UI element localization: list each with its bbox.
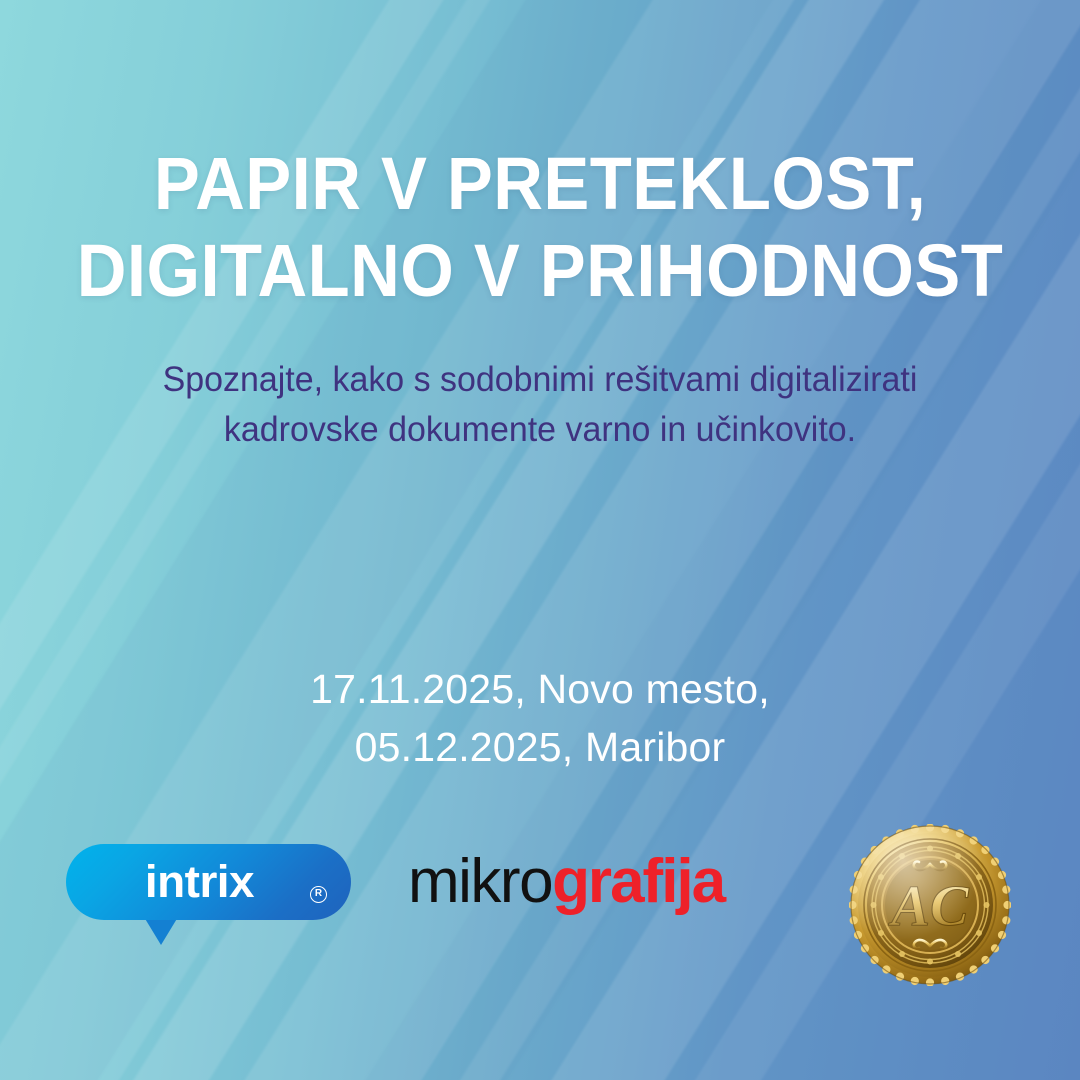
event-date-line-2: 05.12.2025, Maribor <box>0 718 1080 776</box>
mikrografija-wordmark-part2: grafija <box>552 851 724 913</box>
headline-line-2: DIGITALNO V PRIHODNOST <box>38 227 1042 314</box>
headline-line-1: PAPIR V PRETEKLOST, <box>38 140 1042 227</box>
subtitle-line-2: kadrovske dokumente varno in učinkovito. <box>16 405 1064 455</box>
mikrografija-logo[interactable]: mikrografija <box>408 842 798 922</box>
ac-medallion-logo[interactable]: AC <box>849 824 1011 986</box>
mikrografija-wordmark-part1: mikro <box>408 851 552 913</box>
speech-bubble-tail-icon <box>144 917 178 945</box>
subtitle-line-1: Spoznajte, kako s sodobnimi rešitvami di… <box>16 355 1064 405</box>
logo-row: intrix R mikrografija <box>0 812 1080 987</box>
page-subtitle: Spoznajte, kako s sodobnimi rešitvami di… <box>16 355 1064 454</box>
registered-trademark-icon: R <box>310 886 327 903</box>
intrix-logo[interactable]: intrix R <box>66 844 351 920</box>
gold-coin-icon: AC <box>849 824 1011 986</box>
page-title: PAPIR V PRETEKLOST, DIGITALNO V PRIHODNO… <box>38 140 1042 315</box>
poster-canvas: PAPIR V PRETEKLOST, DIGITALNO V PRIHODNO… <box>0 0 1080 1080</box>
event-dates: 17.11.2025, Novo mesto, 05.12.2025, Mari… <box>0 660 1080 776</box>
event-date-line-1: 17.11.2025, Novo mesto, <box>0 660 1080 718</box>
intrix-wordmark: intrix <box>54 844 345 920</box>
